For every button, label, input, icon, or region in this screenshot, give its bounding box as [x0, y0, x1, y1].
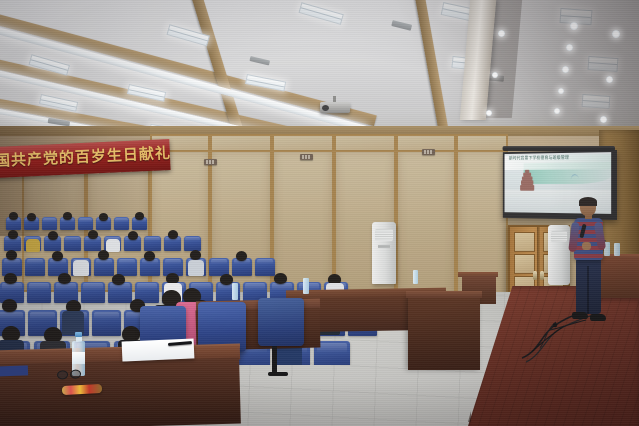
- downlight-icon: [554, 108, 560, 114]
- attendee-head: [9, 212, 18, 220]
- downlight-icon: [612, 30, 620, 38]
- attendee-torso: [188, 260, 204, 276]
- attendee-head: [52, 251, 63, 261]
- ac-grille-icon: [551, 231, 567, 242]
- seat[interactable]: [25, 258, 45, 276]
- seat[interactable]: [78, 217, 93, 230]
- wall-panel-upper: [210, 134, 272, 152]
- attendee-head: [27, 213, 36, 221]
- seat[interactable]: [94, 258, 114, 276]
- seat[interactable]: [92, 310, 121, 336]
- attendee-head: [58, 273, 71, 284]
- downlight-icon: [486, 110, 492, 116]
- presenter-shoe: [572, 312, 588, 319]
- door-panel: [514, 232, 535, 252]
- seat[interactable]: [144, 236, 161, 251]
- attendee-head: [128, 231, 138, 240]
- attendee-torso: [73, 260, 89, 276]
- wall-panel-upper: [334, 134, 396, 152]
- eyeglasses[interactable]: [57, 369, 81, 377]
- blue-folder[interactable]: [0, 365, 28, 376]
- wall-panel-upper: [272, 134, 334, 152]
- downlight-icon: [566, 44, 573, 51]
- downlight-icon: [600, 116, 607, 123]
- attendee-head: [99, 213, 108, 221]
- attendee-torso: [26, 239, 40, 252]
- door-handle[interactable]: [540, 271, 544, 280]
- ceiling-projector: [320, 96, 350, 114]
- attendee-head: [63, 212, 72, 220]
- seat[interactable]: [81, 282, 105, 303]
- presenter-hair: [579, 197, 597, 206]
- seat-frame: [268, 372, 288, 376]
- photo-scene: 国共产党的百岁生日献礼 新时代背景下学校德育与班级管理: [0, 0, 639, 426]
- projector-lens-icon: [322, 105, 329, 111]
- ceiling-vent: [249, 56, 270, 65]
- downlight-icon: [562, 66, 569, 73]
- attendee-head: [6, 250, 17, 260]
- wall-speaker-icon: [300, 154, 313, 160]
- foreground-desk-front: [0, 358, 241, 426]
- attendee-head: [112, 274, 125, 285]
- seat[interactable]: [108, 282, 132, 303]
- downlight-icon: [558, 88, 564, 94]
- door-handle[interactable]: [533, 271, 537, 280]
- water-bottle: [303, 278, 309, 294]
- attendee-head: [4, 273, 17, 284]
- downlight-icon: [606, 76, 613, 83]
- water-bottle: [614, 243, 620, 256]
- empty-seat[interactable]: [258, 298, 304, 346]
- seat-frame: [272, 346, 277, 374]
- downlight-icon: [498, 30, 505, 37]
- downlight-icon: [492, 72, 498, 78]
- front-desk-right-top: [406, 291, 482, 298]
- ceiling-light-panel: [298, 2, 343, 25]
- attendee-head: [168, 230, 178, 239]
- seat[interactable]: [114, 217, 129, 230]
- presenter-shoe: [590, 314, 606, 321]
- attendee-head: [48, 231, 58, 240]
- attendee-head: [190, 250, 201, 260]
- downlight-icon: [570, 22, 578, 30]
- attendee-head: [144, 251, 155, 261]
- seat[interactable]: [27, 282, 51, 303]
- wall-speaker-icon: [422, 149, 435, 155]
- wall-panel-upper: [456, 134, 508, 152]
- seat[interactable]: [184, 236, 201, 251]
- presenter-leg-split: [587, 266, 589, 314]
- seat[interactable]: [64, 236, 81, 251]
- seat[interactable]: [255, 258, 275, 276]
- attendee-torso: [106, 239, 120, 252]
- attendee-head: [236, 251, 247, 261]
- attendee-head: [2, 299, 17, 312]
- attendee-head: [274, 273, 287, 284]
- seat[interactable]: [42, 217, 57, 230]
- presenter-hand: [582, 242, 591, 250]
- attendee-head: [135, 212, 144, 220]
- slide-pagoda-graphic: [520, 170, 534, 191]
- front-desk-right: [408, 296, 480, 370]
- wall-speaker-icon: [204, 159, 217, 165]
- attendee-head: [98, 250, 109, 260]
- door-panel: [514, 254, 535, 274]
- water-bottle: [413, 270, 418, 284]
- attendee-head: [8, 230, 18, 239]
- water-bottle: [232, 283, 238, 300]
- bottle-label: [72, 352, 85, 364]
- attendee-head: [88, 230, 98, 239]
- presenter: [566, 198, 610, 330]
